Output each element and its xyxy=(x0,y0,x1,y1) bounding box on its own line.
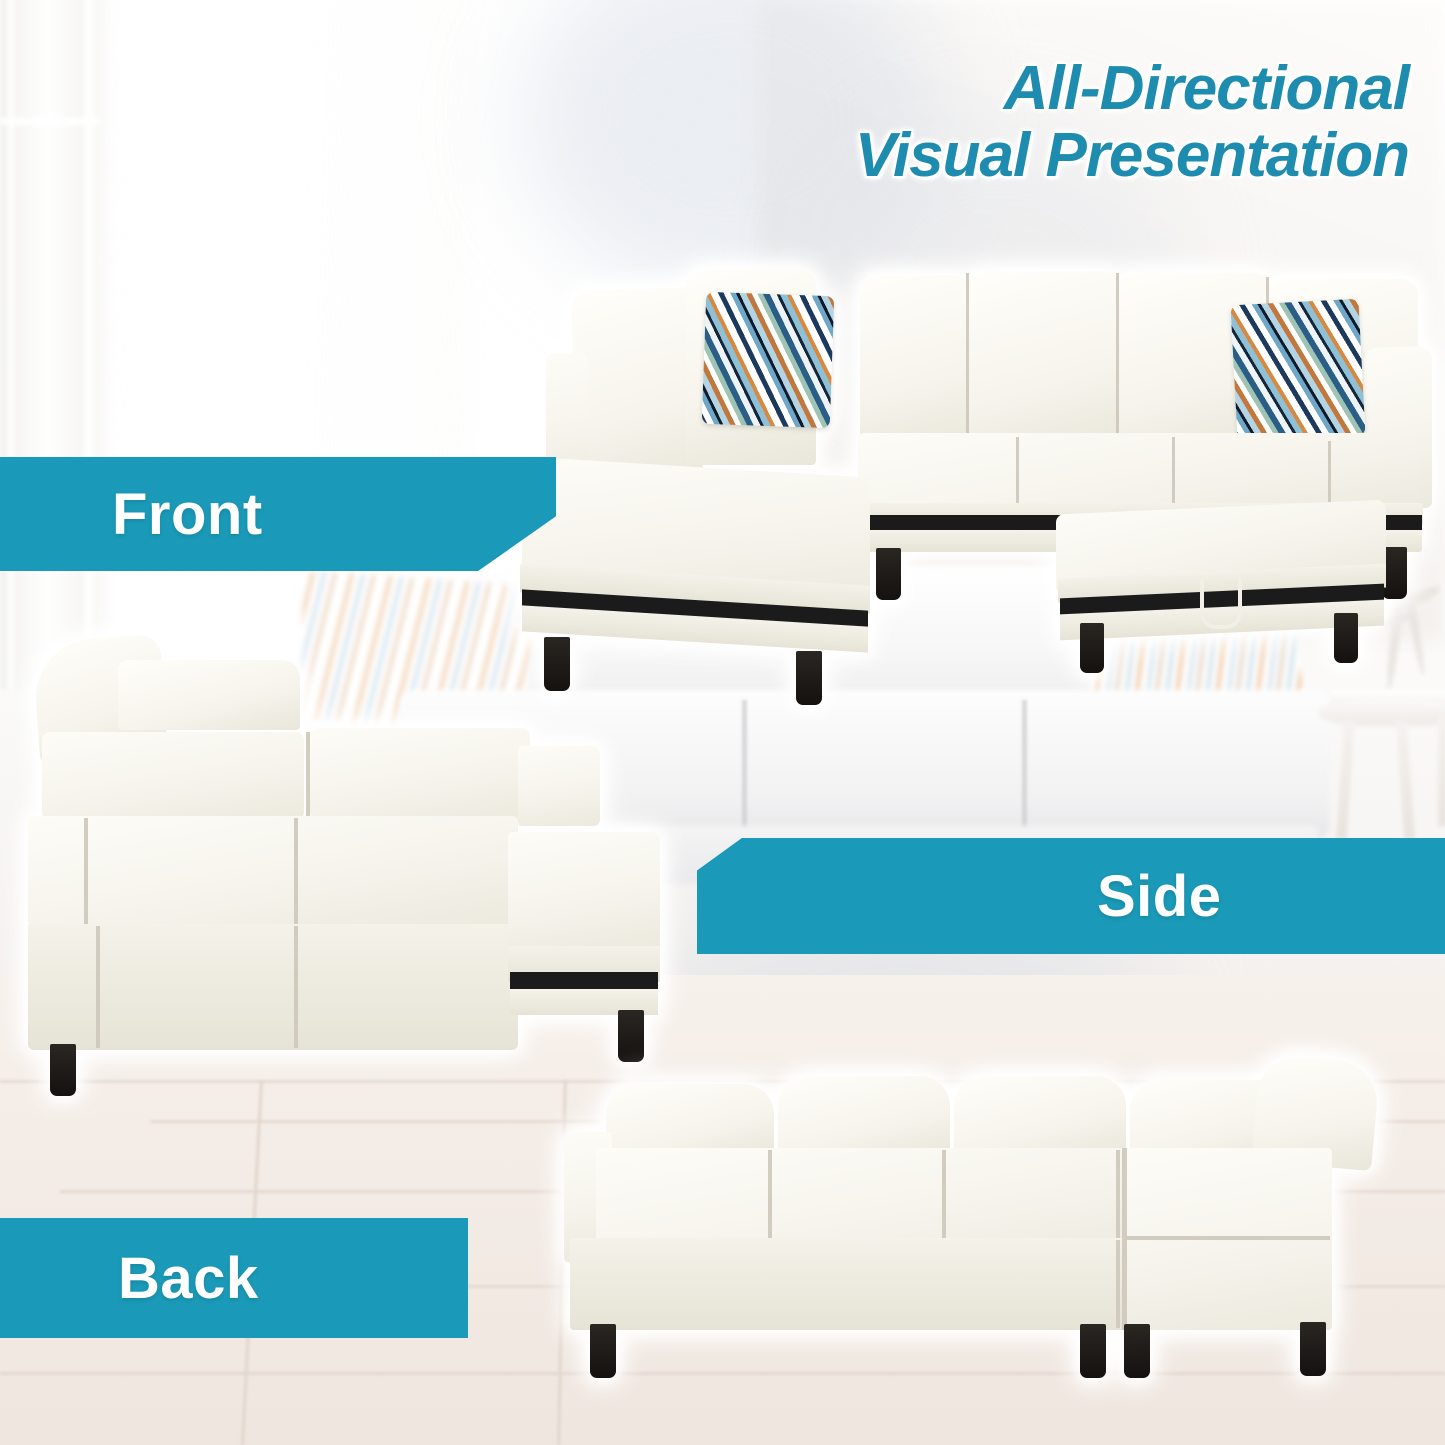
label-front-text: Front xyxy=(112,481,263,548)
panel-seam xyxy=(768,1150,772,1238)
ottoman-lift-strap xyxy=(1200,579,1242,629)
background-table-leg xyxy=(1438,716,1445,826)
side-seat-cushion xyxy=(310,728,530,820)
panel-seam xyxy=(294,926,298,1048)
back-cushion-top xyxy=(606,1084,774,1158)
side-leg xyxy=(50,1044,76,1096)
panel-seam xyxy=(294,818,298,924)
back-cushion-top xyxy=(954,1076,1126,1158)
label-bar-front: Front xyxy=(0,457,556,571)
panel-seam xyxy=(1116,1240,1120,1328)
label-back-text: Back xyxy=(118,1245,259,1312)
window-mullion-vertical xyxy=(84,0,93,690)
label-bar-back: Back xyxy=(0,1218,468,1338)
side-seat-cushion xyxy=(42,732,304,820)
cushion-seam xyxy=(966,273,969,453)
cushion-seam xyxy=(306,732,310,820)
background-window-frame xyxy=(0,0,120,690)
panel-seam xyxy=(96,926,100,1048)
label-bar-side: Side xyxy=(697,838,1445,954)
back-leg xyxy=(590,1324,616,1378)
infographic-canvas: Front Side Back All-Directional Visual P… xyxy=(0,0,1445,1445)
side-chaise-cushion xyxy=(508,832,660,950)
back-cushion xyxy=(860,275,970,450)
product-back-view xyxy=(556,1040,1386,1410)
ottoman-leg xyxy=(1080,623,1104,673)
back-cushion-top xyxy=(778,1076,950,1158)
accent-pillow-right xyxy=(1231,299,1366,443)
background-sofa-seam xyxy=(742,700,747,830)
chaise-leg xyxy=(796,651,822,705)
back-leg xyxy=(1124,1324,1150,1378)
side-chaise-top xyxy=(518,746,600,826)
accent-pillow-left xyxy=(702,292,835,428)
side-body-upper-panel xyxy=(28,816,518,926)
module-seam xyxy=(1126,1236,1330,1240)
window-mullion-vertical xyxy=(8,0,14,690)
window-mullion-horizontal xyxy=(0,118,100,125)
side-body-lower-panel xyxy=(28,924,518,1050)
panel-seam xyxy=(942,1150,946,1238)
back-cushion xyxy=(968,271,1120,451)
cushion-seam xyxy=(1116,273,1119,455)
side-back-top xyxy=(118,660,300,730)
back-leg xyxy=(1080,1324,1106,1378)
black-trim-stripe xyxy=(510,972,658,990)
ottoman-leg xyxy=(1334,613,1358,663)
sofa-leg xyxy=(876,548,901,600)
panel-seam xyxy=(84,818,88,924)
label-side-text: Side xyxy=(1097,863,1222,930)
background-sofa-seam xyxy=(1022,700,1027,830)
back-leg xyxy=(1300,1322,1326,1376)
product-side-view xyxy=(18,620,678,1040)
panel-seam xyxy=(1116,1150,1120,1238)
